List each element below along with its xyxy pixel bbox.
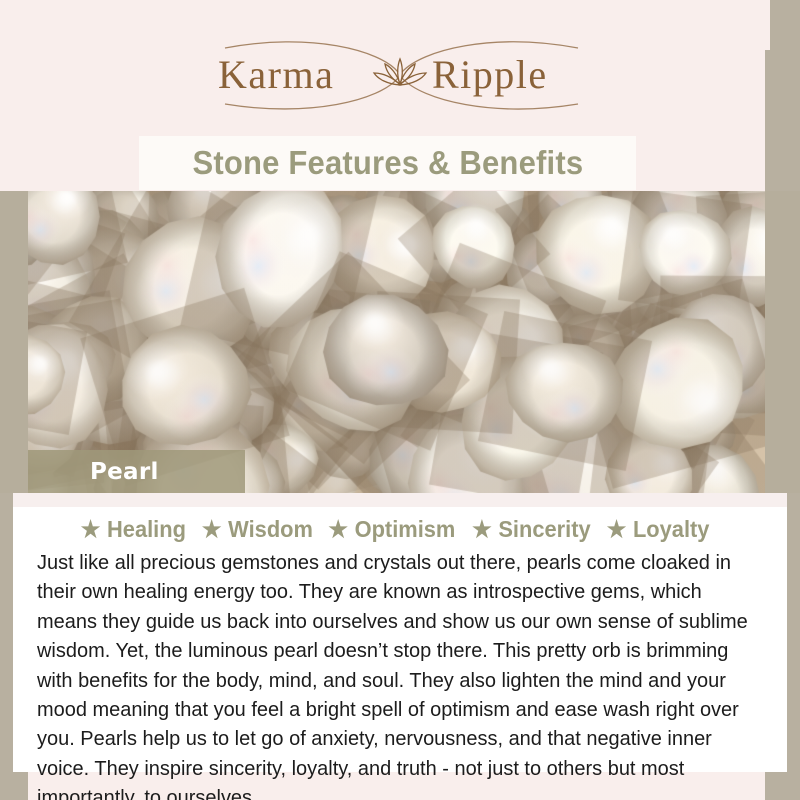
- logo-svg: Karma Ripple: [190, 36, 610, 114]
- keyword-item: ★Healing: [81, 516, 186, 543]
- keyword-item: ★Wisdom: [202, 516, 313, 543]
- section-title-banner: Stone Features & Benefits: [139, 136, 636, 190]
- stone-name-badge: Pearl: [28, 450, 245, 493]
- keyword-label: Loyalty: [633, 516, 710, 543]
- keyword-item: ★Optimism: [329, 516, 456, 543]
- brand-name-right: Ripple: [432, 52, 548, 97]
- keyword-label: Healing: [107, 516, 186, 543]
- brand-logo: Karma Ripple: [0, 34, 800, 116]
- star-icon: ★: [81, 518, 101, 541]
- stone-name-label: Pearl: [90, 459, 159, 485]
- keyword-item: ★Loyalty: [607, 516, 710, 543]
- lotus-icon: [374, 59, 426, 85]
- brand-name-left: Karma: [218, 52, 334, 97]
- pearls-photo-canvas: [0, 191, 800, 493]
- content-top-fade: [13, 493, 787, 507]
- keyword-item: ★Sincerity: [472, 516, 591, 543]
- star-icon: ★: [607, 518, 627, 541]
- star-icon: ★: [329, 518, 349, 541]
- benefit-keywords: ★Healing★Wisdom★Optimism★Sincerity★Loyal…: [0, 516, 800, 543]
- photo-left-frame: [0, 191, 28, 493]
- keyword-label: Wisdom: [228, 516, 313, 543]
- infographic-page: Karma Ripple Stone Features & Benefits P…: [0, 0, 800, 800]
- star-icon: ★: [202, 518, 222, 541]
- keyword-label: Optimism: [355, 516, 456, 543]
- pearls-photo: [0, 191, 800, 493]
- page-title: Stone Features & Benefits: [192, 144, 583, 182]
- keyword-label: Sincerity: [499, 516, 591, 543]
- body-paragraph: Just like all precious gemstones and cry…: [37, 549, 752, 800]
- star-icon: ★: [472, 518, 492, 541]
- photo-right-frame: [765, 191, 800, 493]
